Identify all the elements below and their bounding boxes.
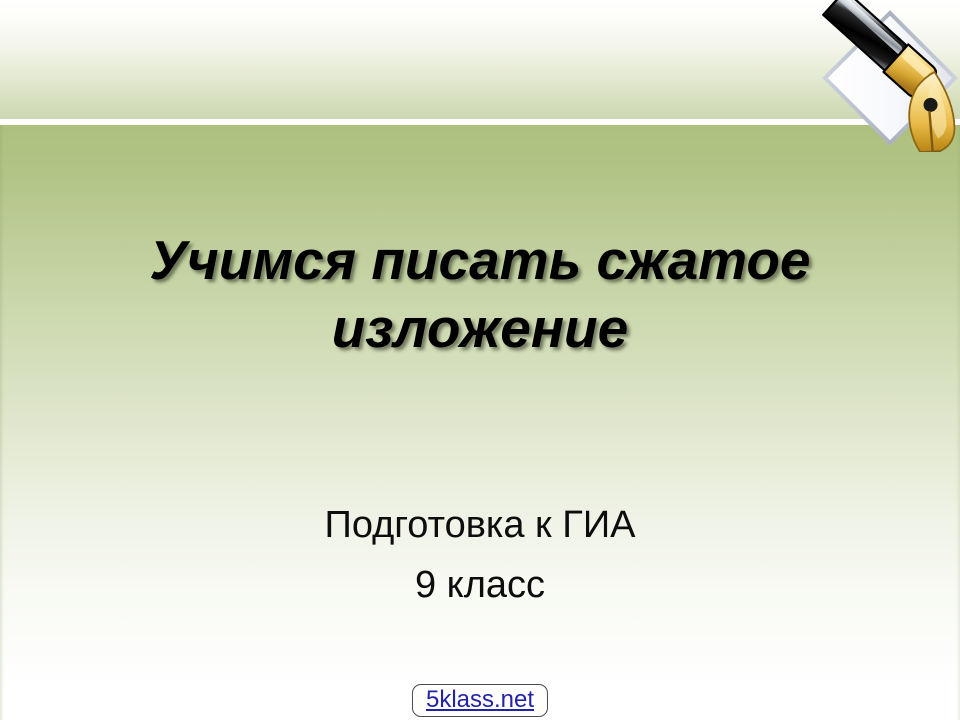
watermark-link-label[interactable]: 5klass.net [426,686,534,713]
fountain-pen-icon [795,0,960,152]
presentation-slide: Учимся писать сжатое изложение Подготовк… [0,0,960,720]
background-bottom-band [0,125,960,720]
title-line-1: Учимся писать сжатое [60,226,900,294]
slide-subtitle: Подготовка к ГИА 9 класс [60,495,900,615]
title-line-2: изложение [60,294,900,362]
watermark-badge[interactable]: 5klass.net [412,684,548,717]
subtitle-line-1: Подготовка к ГИА [60,495,900,555]
subtitle-line-2: 9 класс [60,555,900,615]
slide-title: Учимся писать сжатое изложение [60,226,900,362]
